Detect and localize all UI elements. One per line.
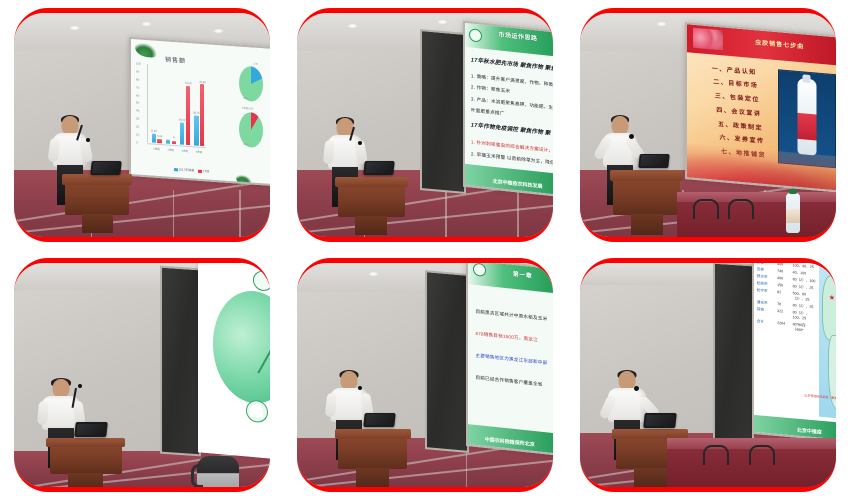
laptop-3 bbox=[638, 154, 669, 168]
downlight-icon bbox=[214, 29, 223, 33]
projection-screen-2: 市场运作思路 17年秋水肥先市场 聚焦作物 聚焦 1. 策略：提升客户满意度、作… bbox=[463, 21, 553, 198]
scene-4 bbox=[14, 263, 270, 487]
podium-5 bbox=[338, 429, 407, 469]
map-star-icon: ★ bbox=[828, 294, 834, 302]
laptop-4 bbox=[75, 422, 109, 437]
photo-6[interactable]: 长春 400 100、40、25 吉林 740 40、100 舒兰市 bbox=[580, 263, 836, 487]
downlight-icon bbox=[142, 22, 151, 26]
photo-3[interactable]: 虫胶销售七步曲 一、产品认知 二、目标市场 三、包装定位 四、会议宣讲 五、政策… bbox=[580, 13, 836, 237]
chart-slide: 销售额 100 90 80 70 60 50 40 30 20 10 0 bbox=[131, 39, 270, 184]
thermos-flask bbox=[197, 456, 239, 487]
projection-screen-3: 虫胶销售七步曲 一、产品认知 二、目标市场 三、包装定位 四、会议宣讲 五、政策… bbox=[685, 22, 836, 193]
projection-screen-5: 第一章 目前黑吉区域共计中原水稻及玉米 678销售目标1500万，黑龙江 主要销… bbox=[466, 263, 553, 456]
photo-1[interactable]: 销售额 100 90 80 70 60 50 40 30 20 10 0 bbox=[14, 13, 270, 237]
sales-table: 长春 400 100、40、25 吉林 740 40、100 舒兰市 bbox=[756, 263, 816, 335]
wall-panel bbox=[713, 263, 754, 444]
stage-rail bbox=[728, 199, 754, 219]
laptop-1 bbox=[90, 161, 121, 175]
gallery-cell-6[interactable]: 长春 400 100、40、25 吉林 740 40、100 舒兰市 bbox=[566, 250, 849, 500]
scene-5: 第一章 目前黑吉区域共计中原水稻及玉米 678销售目标1500万，黑龙江 主要销… bbox=[297, 263, 553, 487]
laptop-2 bbox=[363, 161, 394, 175]
projection-screen-1: 销售额 100 90 80 70 60 50 40 30 20 10 0 bbox=[129, 37, 270, 186]
laptop-5 bbox=[363, 413, 395, 427]
wall-panel bbox=[425, 270, 469, 453]
stage-rail bbox=[693, 199, 719, 219]
laptop-6 bbox=[643, 413, 677, 428]
projection-screen-4 bbox=[198, 263, 270, 459]
gallery-cell-5[interactable]: 第一章 目前黑吉区域共计中原水稻及玉米 678销售目标1500万，黑龙江 主要销… bbox=[283, 250, 566, 500]
flower-badge-icon bbox=[246, 399, 268, 423]
gallery-cell-1[interactable]: 销售额 100 90 80 70 60 50 40 30 20 10 0 bbox=[0, 0, 283, 250]
scene-3: 虫胶销售七步曲 一、产品认知 二、目标市场 三、包装定位 四、会议宣讲 五、政策… bbox=[580, 13, 836, 237]
photo-4[interactable] bbox=[14, 263, 270, 487]
projection-screen-6: 长春 400 100、40、25 吉林 740 40、100 舒兰市 bbox=[752, 263, 836, 442]
company-logo-icon bbox=[253, 270, 270, 292]
branding-slide-4 bbox=[198, 263, 270, 459]
podium-4 bbox=[50, 438, 122, 474]
region-map: ★ ★ 山东等地区已到货，聚焦、专供 bbox=[819, 263, 836, 419]
list-slide-3: 虫胶销售七步曲 一、产品认知 二、目标市场 三、包装定位 四、会议宣讲 五、政策… bbox=[687, 24, 836, 190]
wall-panel bbox=[160, 266, 201, 457]
podium-3 bbox=[613, 170, 680, 215]
table-slide-6: 长春 400 100、40、25 吉林 740 40、100 舒兰市 bbox=[754, 263, 836, 440]
text-slide-5: 第一章 目前黑吉区域共计中原水稻及玉米 678销售目标1500万，黑龙江 主要销… bbox=[468, 263, 553, 454]
photo-5[interactable]: 第一章 目前黑吉区域共计中原水稻及玉米 678销售目标1500万，黑龙江 主要销… bbox=[297, 263, 553, 487]
gallery-cell-3[interactable]: 虫胶销售七步曲 一、产品认知 二、目标市场 三、包装定位 四、会议宣讲 五、政策… bbox=[566, 0, 849, 250]
stage-rail bbox=[703, 445, 729, 465]
chart-title: 销售额 bbox=[165, 55, 186, 65]
stage-rail bbox=[749, 445, 775, 465]
flower-decoration bbox=[693, 27, 723, 50]
text-slide-2: 市场运作思路 17年秋水肥先市场 聚焦作物 聚焦 1. 策略：提升客户满意度、作… bbox=[465, 23, 553, 195]
photo-2[interactable]: 市场运作思路 17年秋水肥先市场 聚焦作物 聚焦 1. 策略：提升客户满意度、作… bbox=[297, 13, 553, 237]
scene-6: 长春 400 100、40、25 吉林 740 40、100 舒兰市 bbox=[580, 263, 836, 487]
scene-2: 市场运作思路 17年秋水肥先市场 聚焦作物 聚焦 1. 策略：提升客户满意度、作… bbox=[297, 13, 553, 237]
scene-1: 销售额 100 90 80 70 60 50 40 30 20 10 0 bbox=[14, 13, 270, 237]
water-bottle bbox=[786, 193, 800, 233]
photo-gallery: 销售额 100 90 80 70 60 50 40 30 20 10 0 bbox=[0, 0, 850, 500]
podium-1 bbox=[65, 174, 129, 214]
chart-legend: 2017年销量 计划 bbox=[174, 168, 210, 174]
gallery-cell-4[interactable] bbox=[0, 250, 283, 500]
wall-panel bbox=[420, 29, 466, 194]
podium-2 bbox=[338, 177, 405, 217]
gallery-cell-2[interactable]: 市场运作思路 17年秋水肥先市场 聚焦作物 聚焦 1. 策略：提升客户满意度、作… bbox=[283, 0, 566, 250]
